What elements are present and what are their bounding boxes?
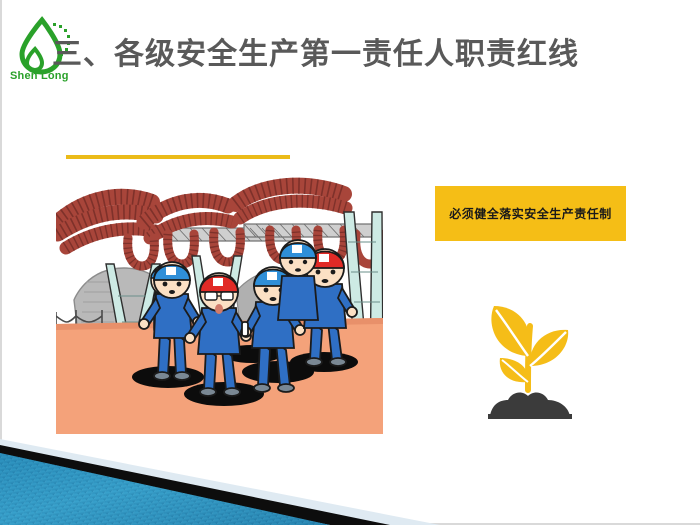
slide-canvas: Shen Long 三、各级安全生产第一责任人职责红线	[0, 0, 700, 525]
safety-workers-illustration	[56, 172, 383, 434]
page-title: 三、各级安全生产第一责任人职责红线	[52, 38, 579, 71]
seedling-icon	[478, 296, 582, 420]
gold-accent-rule	[66, 155, 290, 159]
sprout-graphic	[478, 296, 582, 420]
callout-box: 必须健全落实安全生产责任制	[435, 186, 626, 241]
logo-wordmark: Shen Long	[10, 70, 69, 82]
slide-border-left	[0, 0, 2, 525]
callout-text: 必须健全落实安全生产责任制	[449, 205, 612, 222]
